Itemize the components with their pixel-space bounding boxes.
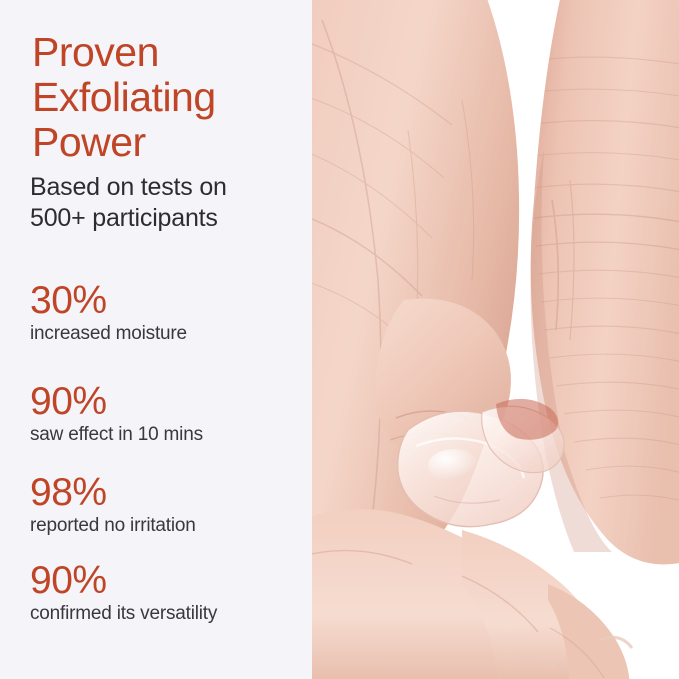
left-text-panel: Proven Exfoliating Power Based on tests … (0, 0, 312, 679)
page-subtitle: Based on tests on 500+ participants (30, 172, 308, 234)
stat-label: increased moisture (30, 322, 310, 345)
stat-label: reported no irritation (30, 514, 310, 537)
stat-label: saw effect in 10 mins (30, 423, 310, 446)
stat-label: confirmed its versatility (30, 602, 310, 625)
page-title: Proven Exfoliating Power (32, 30, 304, 165)
gel-specular-highlight (428, 449, 480, 483)
stat-value: 98% (30, 473, 310, 513)
product-photo-illustration (312, 0, 679, 679)
stat-value: 90% (30, 382, 310, 422)
stat-block: 30% increased moisture (30, 281, 310, 345)
infographic-root: Proven Exfoliating Power Based on tests … (0, 0, 679, 679)
stat-value: 30% (30, 281, 310, 321)
stat-block: 90% confirmed its versatility (30, 561, 310, 625)
product-photo (312, 0, 679, 679)
stat-block: 90% saw effect in 10 mins (30, 382, 310, 446)
stat-block: 98% reported no irritation (30, 473, 310, 537)
stat-value: 90% (30, 561, 310, 601)
heel-shape (531, 0, 679, 565)
